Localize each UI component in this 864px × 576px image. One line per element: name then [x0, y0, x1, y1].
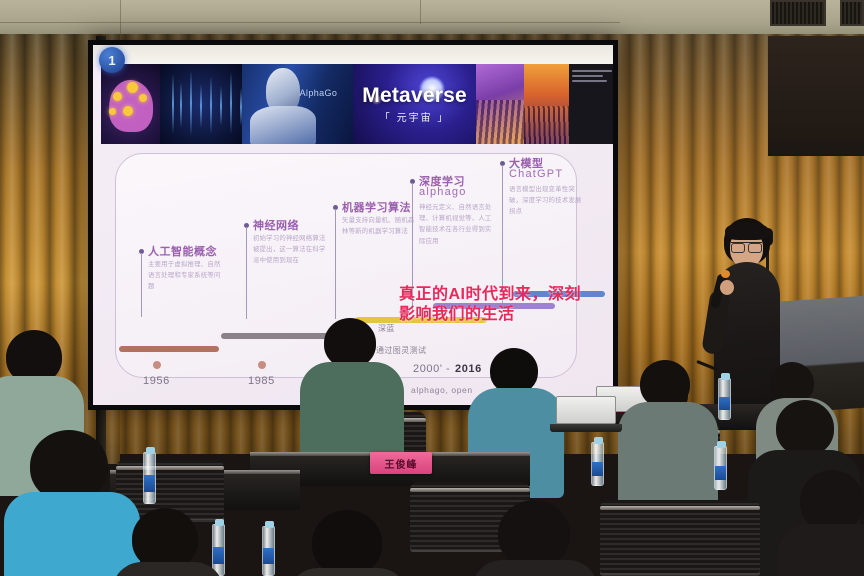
water-bottle-front-2	[212, 524, 225, 576]
alphago-robot-photo: AlphaGo	[242, 64, 353, 144]
neural-wave-graphic	[160, 64, 242, 144]
water-bottle-mid-2	[714, 446, 727, 490]
laptop-base-mid	[550, 424, 622, 432]
metaverse-photo: Metaverse 「 元宇宙 」	[353, 64, 475, 144]
milestone-body: 主要用于虚拟推理、自然语言处理和专家系统等问题	[148, 259, 222, 293]
slide-header-strip	[93, 45, 613, 64]
crowd-photo	[476, 64, 524, 144]
ceiling-speaker-left	[770, 0, 826, 26]
presentation-room-photo: 1	[0, 0, 864, 576]
brain-ai-graphic	[101, 64, 160, 144]
chair-bar-front-1	[116, 466, 224, 470]
glasses-icon	[731, 242, 762, 250]
chair-bar-front-2	[410, 488, 530, 492]
ceiling-speaker-right	[840, 0, 864, 26]
water-bottle-front-3	[262, 526, 275, 576]
laptop-mid	[556, 396, 616, 424]
water-bottle-front-1	[143, 452, 156, 504]
note-turing-test: 通过图灵测试	[376, 345, 426, 356]
note-deepblue: 深蓝	[378, 323, 395, 334]
milestone-title: 机器学习算法	[342, 199, 411, 215]
dark-text-panel	[569, 64, 613, 144]
metaverse-title: Metaverse	[362, 84, 467, 108]
timeline-footnote: alphago, open	[411, 385, 473, 395]
slide-number-badge: 1	[99, 47, 125, 73]
year-dot-1956	[153, 361, 161, 369]
milestone-body: 矢量支持向量机、随机森林等新的机器学习算法	[342, 215, 416, 237]
milestone-body: 神经元定义、自然语言处理、计算机视觉等、人工智能技术在各行业得到实际应用	[419, 202, 493, 247]
slide-banner: AlphaGo Metaverse 「 元宇宙 」	[101, 64, 613, 144]
milestone-subtitle: alphago	[419, 186, 467, 198]
name-placard: 王俊峰	[370, 452, 432, 474]
year-label-2000: 2000'	[413, 363, 443, 375]
year-dot-1985	[258, 361, 266, 369]
water-bottle-back	[718, 378, 731, 420]
chair-front-3	[600, 500, 760, 576]
metaverse-subtitle: 「 元宇宙 」	[380, 109, 450, 124]
year-label-2016: 2016	[455, 363, 482, 375]
milestone-title: 人工智能概念	[148, 243, 217, 259]
field-sunset-photo	[524, 64, 569, 144]
timeline-bar-1	[119, 346, 219, 352]
year-range-separator: -	[446, 363, 450, 375]
water-bottle-mid-1	[591, 442, 604, 486]
milestone-body: 初始学习的神经网络算法被提出，这一算法在科学派中使用到现在	[253, 233, 327, 267]
milestone-title: 神经网络	[253, 217, 299, 233]
year-label-1985: 1985	[248, 375, 275, 387]
year-label-1956: 1956	[143, 375, 170, 387]
wall-panel-right	[768, 36, 864, 156]
alphago-logo-text: AlphaGo	[300, 88, 338, 98]
milestone-subtitle: ChatGPT	[509, 168, 563, 180]
chair-bar-front-3	[600, 506, 760, 510]
slide-callout-text: 真正的AI时代到来，深刻影响我们的生活	[399, 285, 589, 325]
milestone-body: 语言模型出现变革性突破，深度学习的技术发展拐点	[509, 184, 583, 218]
